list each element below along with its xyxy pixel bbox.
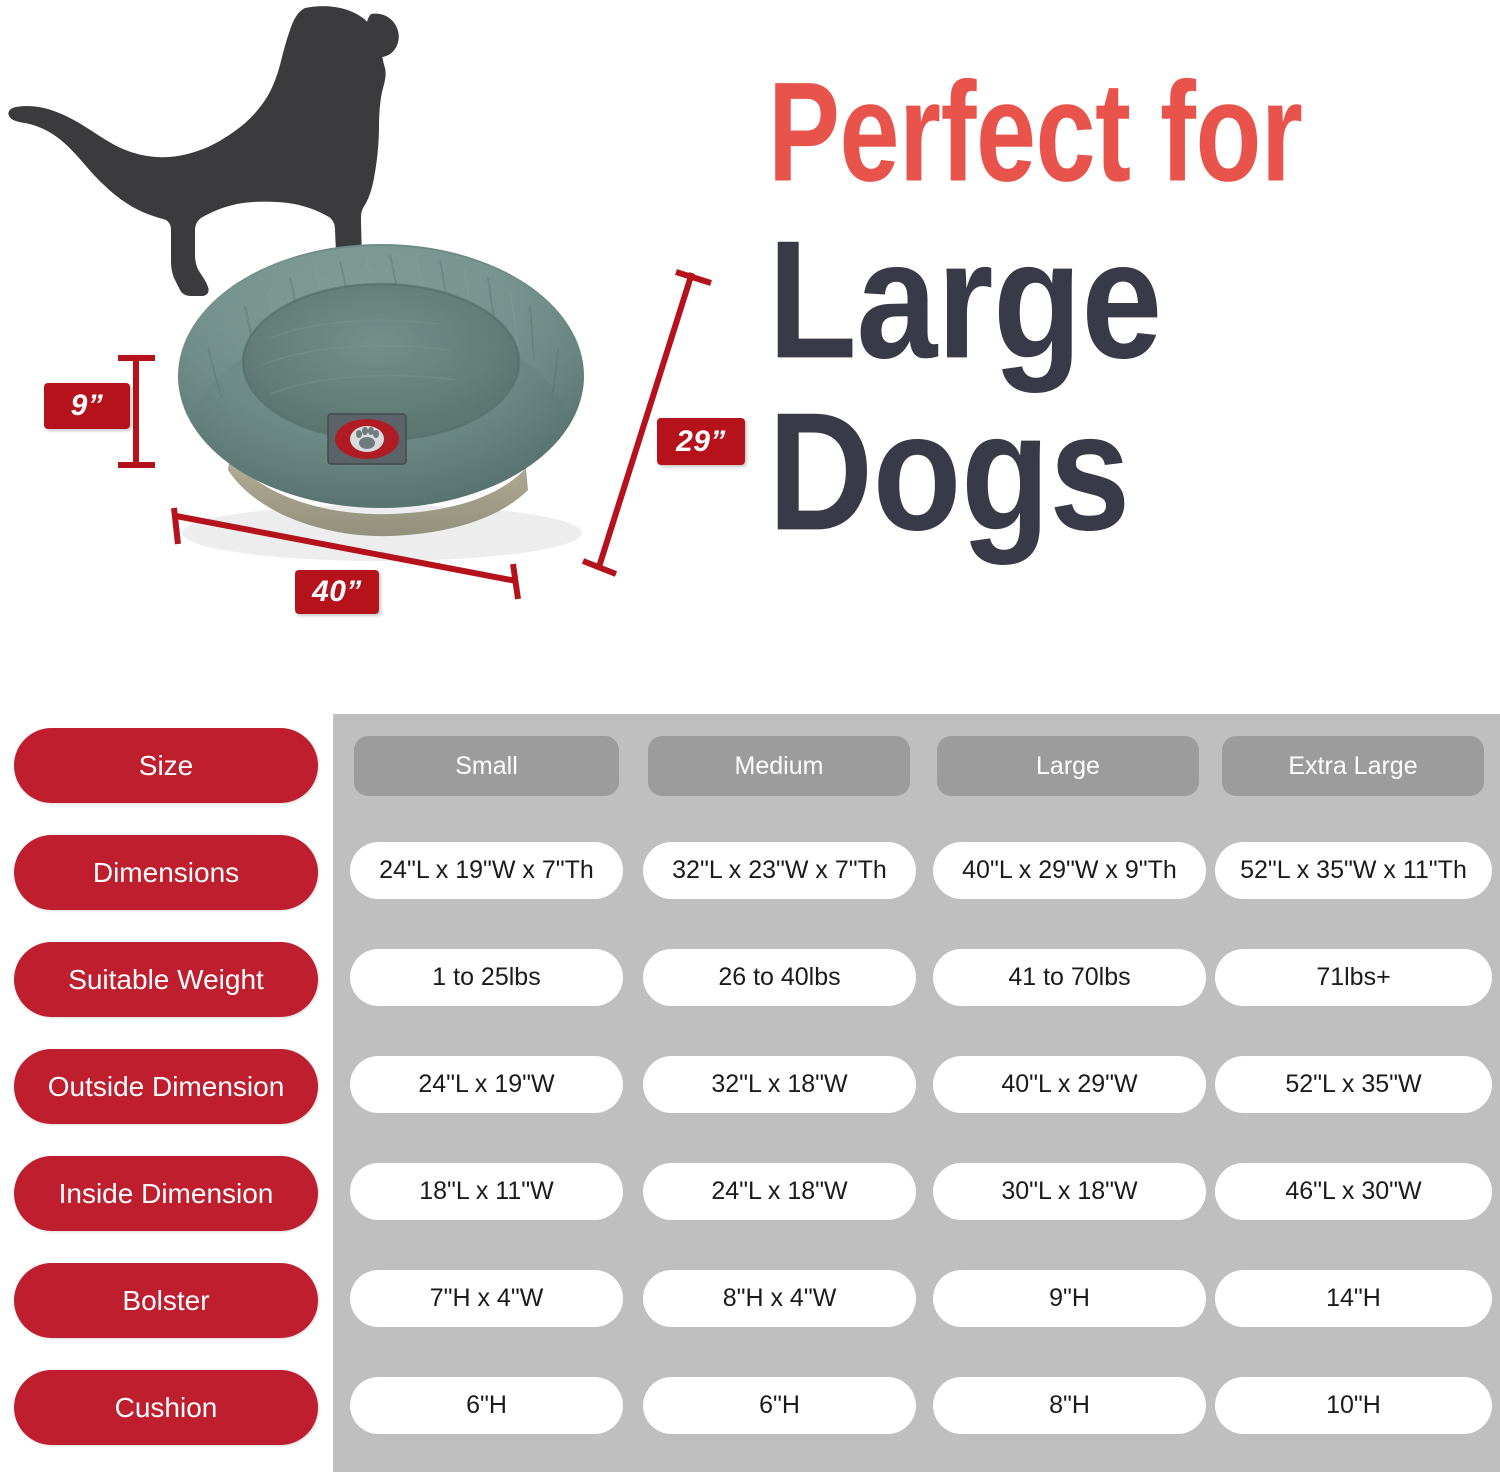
headline-line-1: Perfect for [768, 56, 1447, 207]
cell-inside-extra-large: 46"L x 30"W [1215, 1163, 1492, 1220]
cell-outside-medium: 32"L x 18"W [643, 1056, 916, 1113]
cell-weight-small: 1 to 25lbs [350, 949, 623, 1006]
row-label-inside-dimension: Inside Dimension [14, 1156, 318, 1231]
row-label-cushion: Cushion [14, 1370, 318, 1445]
cell-weight-extra-large: 71lbs+ [1215, 949, 1492, 1006]
cell-cushion-extra-large: 10"H [1215, 1377, 1492, 1434]
cell-bolster-small: 7"H x 4"W [350, 1270, 623, 1327]
page-title: Perfect for Large Dogs [768, 56, 1498, 538]
column-header-large: Large [937, 736, 1199, 796]
cell-inside-large: 30"L x 18"W [933, 1163, 1206, 1220]
row-label-suitable-weight: Suitable Weight [14, 942, 318, 1017]
cell-inside-medium: 24"L x 18"W [643, 1163, 916, 1220]
row-label-size: Size [14, 728, 318, 803]
cell-bolster-medium: 8"H x 4"W [643, 1270, 916, 1327]
cell-dimensions-extra-large: 52"L x 35"W x 11"Th [1215, 842, 1492, 899]
row-label-column: Size Dimensions Suitable Weight Outside … [0, 690, 333, 1472]
cell-dimensions-small: 24"L x 19"W x 7"Th [350, 842, 623, 899]
cell-outside-large: 40"L x 29"W [933, 1056, 1206, 1113]
column-header-small: Small [354, 736, 619, 796]
headline-line-2: Large [768, 214, 1476, 384]
row-label-bolster: Bolster [14, 1263, 318, 1338]
product-image-dog-bed [150, 198, 610, 588]
callout-length: 40” [295, 570, 379, 614]
callout-height: 9” [44, 383, 130, 429]
cell-dimensions-large: 40"L x 29"W x 9"Th [933, 842, 1206, 899]
cell-weight-large: 41 to 70lbs [933, 949, 1206, 1006]
cell-bolster-extra-large: 14"H [1215, 1270, 1492, 1327]
cell-bolster-large: 9"H [933, 1270, 1206, 1327]
cell-cushion-large: 8"H [933, 1377, 1206, 1434]
column-header-medium: Medium [648, 736, 910, 796]
callout-width: 29” [657, 418, 745, 465]
headline-line-3: Dogs [768, 386, 1476, 556]
infographic-page: 9” 29” 40” Perfect for Large Dogs Size D… [0, 0, 1500, 1472]
column-header-extra-large: Extra Large [1222, 736, 1484, 796]
cell-inside-small: 18"L x 11"W [350, 1163, 623, 1220]
row-label-dimensions: Dimensions [14, 835, 318, 910]
row-label-outside-dimension: Outside Dimension [14, 1049, 318, 1124]
cell-outside-extra-large: 52"L x 35"W [1215, 1056, 1492, 1113]
size-comparison-table: Size Dimensions Suitable Weight Outside … [0, 690, 1500, 1472]
hero-section: 9” 29” 40” Perfect for Large Dogs [0, 0, 1500, 690]
cell-outside-small: 24"L x 19"W [350, 1056, 623, 1113]
brand-tag [328, 414, 406, 464]
cell-weight-medium: 26 to 40lbs [643, 949, 916, 1006]
cell-cushion-small: 6"H [350, 1377, 623, 1434]
cell-cushion-medium: 6"H [643, 1377, 916, 1434]
cell-dimensions-medium: 32"L x 23"W x 7"Th [643, 842, 916, 899]
